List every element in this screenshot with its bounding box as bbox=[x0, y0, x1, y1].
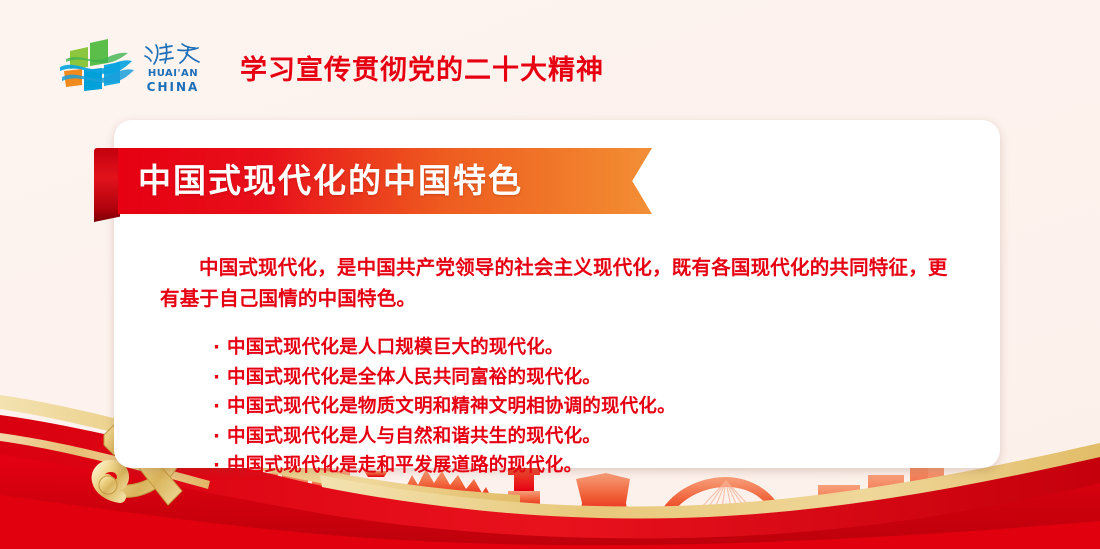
bullet-marker-icon: · bbox=[213, 422, 227, 452]
list-item: ·中国式现代化是人口规模巨大的现代化。 bbox=[213, 333, 960, 363]
bullet-list: ·中国式现代化是人口规模巨大的现代化。 ·中国式现代化是全体人民共同富裕的现代化… bbox=[213, 333, 960, 481]
list-item: ·中国式现代化是走和平发展道路的现代化。 bbox=[213, 451, 960, 481]
logo-chinese-name bbox=[142, 41, 204, 67]
card-body: 中国式现代化，是中国共产党领导的社会主义现代化，既有各国现代化的共同特征，更有基… bbox=[160, 232, 960, 481]
list-item: ·中国式现代化是人与自然和谐共生的现代化。 bbox=[213, 422, 960, 452]
list-item-label: 中国式现代化是物质文明和精神文明相协调的现代化。 bbox=[227, 396, 676, 417]
logo-country-name: CHINA bbox=[142, 81, 204, 93]
bullet-marker-icon: · bbox=[213, 363, 227, 393]
list-item: ·中国式现代化是物质文明和精神文明相协调的现代化。 bbox=[213, 392, 960, 422]
lead-paragraph: 中国式现代化，是中国共产党领导的社会主义现代化，既有各国现代化的共同特征，更有基… bbox=[160, 252, 960, 314]
bullet-marker-icon: · bbox=[213, 333, 227, 363]
page-title: 学习宣传贯彻党的二十大精神 bbox=[240, 48, 604, 87]
logo-latin-name: HUAI'AN bbox=[142, 69, 204, 79]
list-item-label: 中国式现代化是人口规模巨大的现代化。 bbox=[227, 337, 564, 358]
logo-wordmark: HUAI'AN CHINA bbox=[142, 41, 204, 93]
banner-title: 中国式现代化的中国特色 bbox=[138, 148, 523, 214]
bullet-marker-icon: · bbox=[213, 451, 227, 481]
banner-left-fold bbox=[94, 148, 120, 214]
huaian-city-logo-icon bbox=[58, 37, 136, 97]
list-item-label: 中国式现代化是全体人民共同富裕的现代化。 bbox=[227, 367, 601, 388]
list-item-label: 中国式现代化是走和平发展道路的现代化。 bbox=[227, 455, 582, 476]
list-item-label: 中国式现代化是人与自然和谐共生的现代化。 bbox=[227, 426, 601, 447]
poster-canvas: HUAI'AN CHINA 学习宣传贯彻党的二十大精神 中国式现代化的中国特色 … bbox=[0, 0, 1100, 549]
header: HUAI'AN CHINA 学习宣传贯彻党的二十大精神 bbox=[58, 33, 604, 101]
list-item: ·中国式现代化是全体人民共同富裕的现代化。 bbox=[213, 363, 960, 393]
bullet-marker-icon: · bbox=[213, 392, 227, 422]
